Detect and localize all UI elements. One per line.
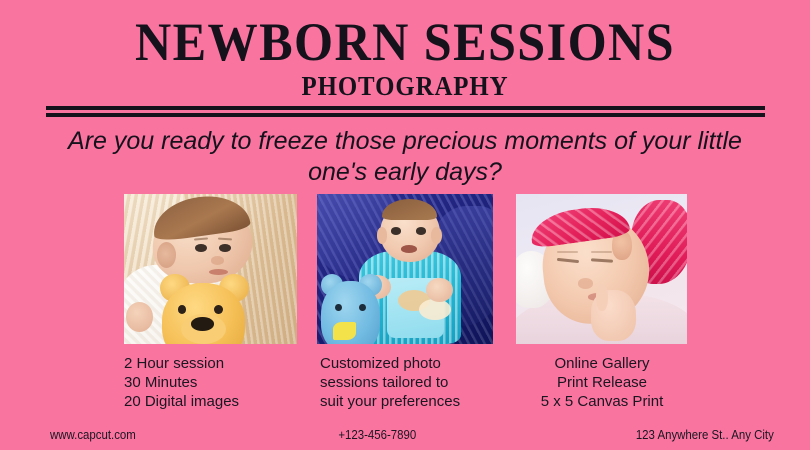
baby-eyebrow-right [218,237,232,240]
blue-teddy-eye-left [335,304,342,312]
baby-ear-right [431,227,442,244]
footer-website[interactable]: www.capcut.com [50,427,136,442]
yellow-bow [333,322,356,340]
baby-ear [157,242,176,268]
baby-ear-left [377,227,388,244]
baby-eye-left [195,244,207,252]
footer: www.capcut.com +123-456-7890 123 Anywher… [0,427,810,447]
baby-eyebrow-right [591,251,612,253]
divider-bar-bottom [46,113,765,117]
baby-arm [126,302,154,332]
photo-baby-with-teddy-bear [124,194,297,344]
footer-phone[interactable]: +123-456-7890 [338,427,416,442]
baby-nose [578,278,593,289]
baby-eye-right [219,244,231,252]
caption-customized-sessions: Customized photo sessions tailored to su… [320,354,500,411]
caption-deliverables: Online Gallery Print Release 5 x 5 Canva… [512,354,692,411]
photo-1-scene [124,194,297,344]
tagline: Are you ready to freeze those precious m… [55,126,755,188]
baby-finger [596,284,608,311]
baby-eye-right [416,227,427,235]
baby-hand-right [426,278,452,302]
teddy-nose [191,317,213,331]
baby-eye-left [391,227,402,235]
photo-3-scene [516,194,687,344]
header-block: NEWBORN SESSIONS PHOTOGRAPHY [0,14,810,101]
page-subtitle: PHOTOGRAPHY [32,71,777,101]
baby-nose [211,256,225,265]
baby-mouth [209,269,228,275]
newborn-sessions-poster: NEWBORN SESSIONS PHOTOGRAPHY Are you rea… [0,0,810,450]
page-title: NEWBORN SESSIONS [28,14,781,70]
photo-2-scene [317,194,493,344]
header-divider [46,106,765,117]
divider-bar-top [46,106,765,110]
photo-sleeping-baby-with-headband [516,194,687,344]
baby-mouth [401,245,417,253]
baby-eyebrow-left [557,251,578,253]
footer-address: 123 Anywhere St.. Any City [636,427,774,442]
photo-baby-on-blue-blanket [317,194,493,344]
caption-session-details: 2 Hour session 30 Minutes 20 Digital ima… [124,354,304,411]
teddy-eye-right [214,305,223,314]
bib-motif-b [419,299,451,320]
